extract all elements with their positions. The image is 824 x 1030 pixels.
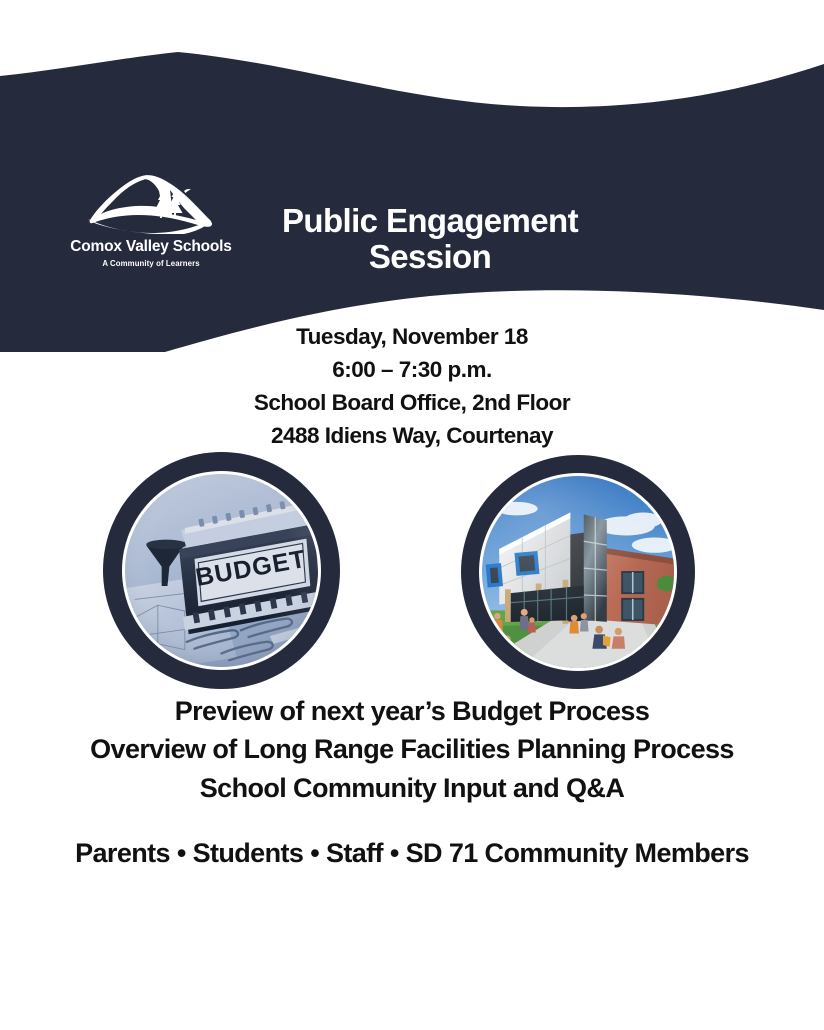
audience-line: Parents • Students • Staff • SD 71 Commu… <box>42 838 782 869</box>
photo-inner-ring <box>479 473 677 671</box>
logo-tagline: A Community of Learners <box>62 259 240 268</box>
poster-headline: Public Engagement Session <box>250 203 610 274</box>
agenda-item-1: Preview of next year’s Budget Process <box>42 692 782 730</box>
event-address: 2488 Idiens Way, Courtenay <box>132 419 692 452</box>
mountain-trees-logo-icon <box>86 172 216 234</box>
event-date: Tuesday, November 18 <box>132 320 692 353</box>
headline-line-1: Public Engagement <box>250 203 610 239</box>
headline-line-2: Session <box>250 239 610 275</box>
photo-inner-ring: BUDGET <box>122 471 321 670</box>
budget-photo-art: BUDGET <box>125 474 318 667</box>
agenda-item-2: Overview of Long Range Facilities Planni… <box>42 730 782 768</box>
logo-organization-name: Comox Valley Schools <box>62 238 240 256</box>
poster-canvas: Comox Valley Schools A Community of Lear… <box>0 0 824 1030</box>
agenda-item-3: School Community Input and Q&A <box>42 769 782 807</box>
school-photo-art <box>482 476 674 668</box>
budget-binder-photo: BUDGET <box>103 452 340 689</box>
agenda-list: Preview of next year’s Budget Process Ov… <box>42 692 782 807</box>
event-details: Tuesday, November 18 6:00 – 7:30 p.m. Sc… <box>132 320 692 452</box>
event-time: 6:00 – 7:30 p.m. <box>132 353 692 386</box>
school-district-logo: Comox Valley Schools A Community of Lear… <box>62 172 240 268</box>
event-venue: School Board Office, 2nd Floor <box>132 386 692 419</box>
school-building-rendering-photo <box>461 455 695 689</box>
